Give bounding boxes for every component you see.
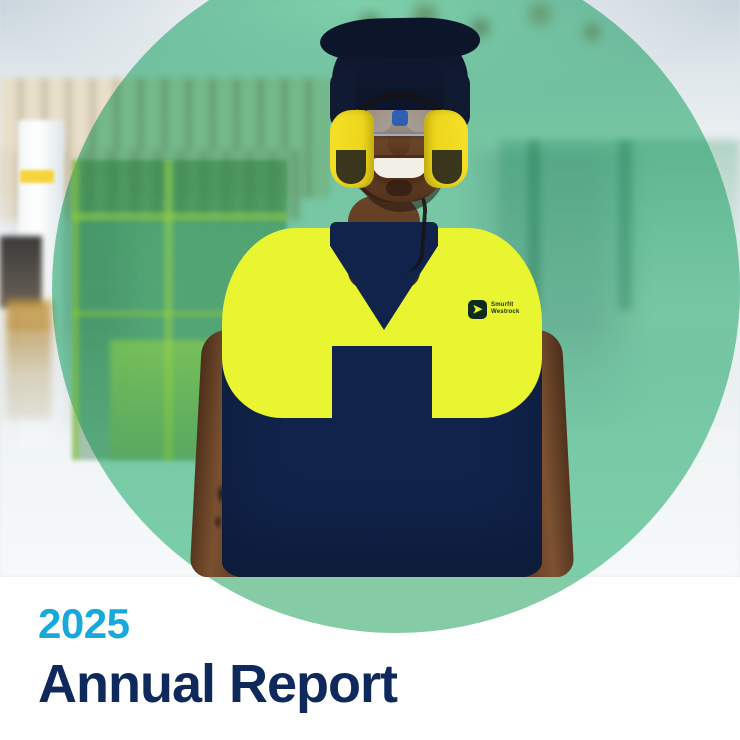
chest-logo: ➤ Smurfit Westrock bbox=[468, 296, 528, 322]
cover-titles: 2025 Annual Report bbox=[38, 600, 558, 716]
annual-report-cover: ➤ Smurfit Westrock bbox=[0, 0, 740, 740]
hi-vis-left-panel bbox=[222, 228, 332, 418]
left-ear-cushion bbox=[336, 150, 366, 184]
right-ear-cushion bbox=[432, 150, 462, 184]
cap-brim bbox=[320, 17, 481, 60]
brand-name-line1: Smurfit bbox=[491, 302, 513, 308]
brand-name: Smurfit Westrock bbox=[491, 302, 520, 316]
cover-photograph: ➤ Smurfit Westrock bbox=[0, 0, 740, 577]
report-year: 2025 bbox=[38, 600, 558, 648]
hi-vis-right-panel bbox=[432, 228, 542, 418]
brand-name-line2: Westrock bbox=[491, 309, 520, 315]
page-title: Annual Report bbox=[38, 652, 558, 716]
brand-mark-icon: ➤ bbox=[468, 300, 487, 319]
worker-figure: ➤ Smurfit Westrock bbox=[0, 0, 740, 577]
chin-beard bbox=[386, 180, 412, 196]
smile bbox=[372, 158, 428, 178]
